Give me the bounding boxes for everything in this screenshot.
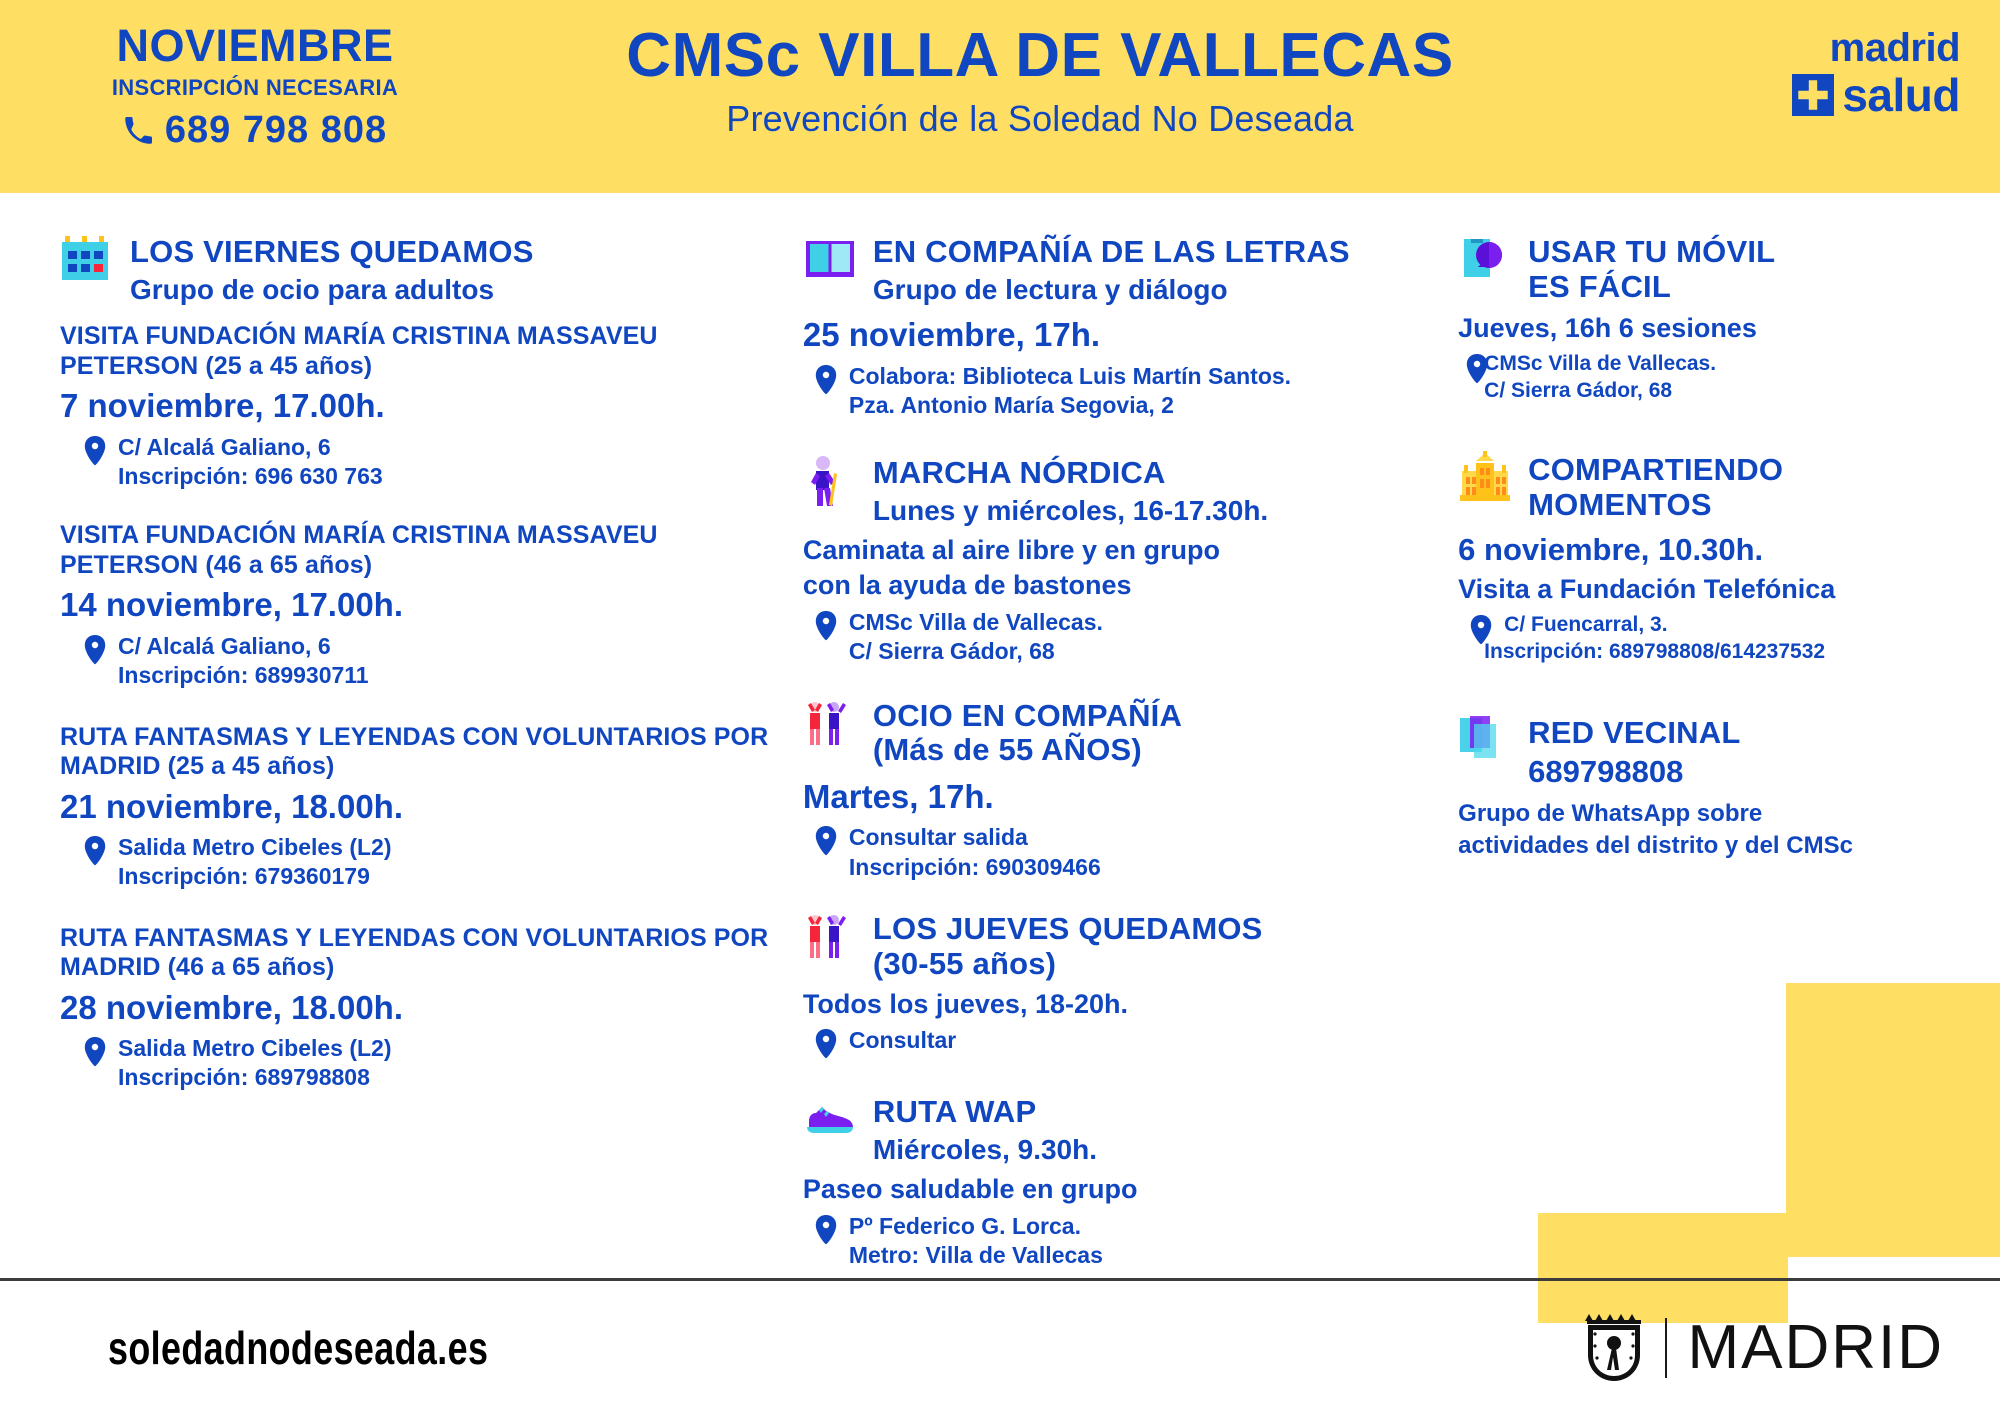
location-text: Salida Metro Cibeles (L2) Inscripción: 6… xyxy=(118,1034,392,1093)
activity-los-viernes-quedamos: LOS VIERNES QUEDAMOS Grupo de ocio para … xyxy=(60,233,781,1093)
location-pin-icon xyxy=(815,611,837,641)
event-date: 28 noviembre, 18.00h. xyxy=(60,987,781,1028)
madrid-salud-logo-line1: madrid xyxy=(1830,28,1960,68)
event-item: VISITA FUNDACIÓN MARÍA CRISTINA MASSAVEU… xyxy=(60,521,781,690)
location-text: Consultar salida Inscripción: 690309466 xyxy=(849,823,1101,882)
activity-subtitle: Grupo de lectura y diálogo xyxy=(873,273,1350,307)
event-name: RUTA FANTASMAS Y LEYENDAS CON VOLUNTARIO… xyxy=(60,723,781,782)
location-line-2: C/ Sierra Gádor, 68 xyxy=(1484,378,1716,405)
event-item: VISITA FUNDACIÓN MARÍA CRISTINA MASSAVEU… xyxy=(60,322,781,491)
poster-body: LOS VIERNES QUEDAMOS Grupo de ocio para … xyxy=(0,193,2000,1293)
activity-title: COMPARTIENDO xyxy=(1528,453,1783,488)
phones-network-icon xyxy=(1458,714,1512,768)
location-pin-icon xyxy=(84,436,106,466)
poster-title: CMSc VILLA DE VALLECAS xyxy=(510,22,1570,90)
location-line-2: Metro: Villa de Vallecas xyxy=(849,1241,1103,1270)
header-phone-number[interactable]: 689 798 808 xyxy=(165,109,387,152)
event-location: Salida Metro Cibeles (L2) Inscripción: 6… xyxy=(60,1034,781,1093)
madrid-salud-logo-row2: salud xyxy=(1792,72,1960,118)
location-address: Salida Metro Cibeles (L2) xyxy=(118,833,392,862)
madrid-city-logo: MADRID xyxy=(1583,1312,1944,1384)
poster-root: NOVIEMBRE INSCRIPCIÓN NECESARIA 689 798 … xyxy=(0,0,2000,1414)
event-location: C/ Alcalá Galiano, 6 Inscripción: 696 63… xyxy=(60,433,781,492)
location-pin-icon xyxy=(84,836,106,866)
location-pin-icon xyxy=(815,1029,837,1059)
location-line-2: Inscripción: 689798808/614237532 xyxy=(1484,639,1825,666)
activity-titles: USAR TU MÓVIL ES FÁCIL xyxy=(1528,233,1775,304)
location-address: C/ Alcalá Galiano, 6 xyxy=(118,632,369,661)
activity-header: USAR TU MÓVIL ES FÁCIL xyxy=(1458,233,1956,304)
location-line-2: C/ Sierra Gádor, 68 xyxy=(849,637,1103,666)
activity-los-jueves-quedamos: LOS JUEVES QUEDAMOS (30-55 años) Todos l… xyxy=(803,910,1438,1059)
activity-date: 6 noviembre, 10.30h. xyxy=(1458,531,1956,570)
activity-header: COMPARTIENDO MOMENTOS xyxy=(1458,451,1956,522)
madrid-salud-logo: madrid salud xyxy=(1570,0,2000,118)
activity-note-line-1: Caminata al aire libre y en grupo xyxy=(803,534,1438,567)
website-url[interactable]: soledadnodeseada.es xyxy=(108,1321,488,1375)
activity-marcha-nordica: MARCHA NÓRDICA Lunes y miércoles, 16-17.… xyxy=(803,454,1438,666)
activity-title: EN COMPAÑÍA DE LAS LETRAS xyxy=(873,235,1350,270)
two-people-icon xyxy=(803,697,857,751)
poster-tagline: Prevención de la Soledad No Deseada xyxy=(510,98,1570,140)
activity-title: USAR TU MÓVIL xyxy=(1528,235,1775,270)
activity-title: RUTA WAP xyxy=(873,1095,1097,1130)
activity-titles: MARCHA NÓRDICA Lunes y miércoles, 16-17.… xyxy=(873,454,1268,527)
column-right: USAR TU MÓVIL ES FÁCIL Jueves, 16h 6 ses… xyxy=(1438,233,1956,1293)
activity-note: Visita a Fundación Telefónica xyxy=(1458,573,1956,606)
event-date: 21 noviembre, 18.00h. xyxy=(60,786,781,827)
activity-phone[interactable]: 689798808 xyxy=(1528,753,1740,792)
activity-red-vecinal: RED VECINAL 689798808 Grupo de WhatsApp … xyxy=(1458,714,1956,860)
activity-compartiendo-momentos: COMPARTIENDO MOMENTOS 6 noviembre, 10.30… xyxy=(1458,451,1956,666)
activity-title-line-2: ES FÁCIL xyxy=(1528,270,1775,305)
location-text: C/ Alcalá Galiano, 6 Inscripción: 696 63… xyxy=(118,433,383,492)
activity-location: CMSc Villa de Vallecas. C/ Sierra Gádor,… xyxy=(803,608,1438,667)
location-registration: Inscripción: 679360179 xyxy=(118,862,392,891)
activity-location: Colabora: Biblioteca Luis Martín Santos.… xyxy=(803,362,1438,421)
activity-header: LOS JUEVES QUEDAMOS (30-55 años) xyxy=(803,910,1438,981)
location-address: C/ Alcalá Galiano, 6 xyxy=(118,433,383,462)
activity-titles: LOS VIERNES QUEDAMOS Grupo de ocio para … xyxy=(130,233,534,306)
activity-header: EN COMPAÑÍA DE LAS LETRAS Grupo de lectu… xyxy=(803,233,1438,306)
phone-icon xyxy=(123,116,153,146)
activity-subtitle: Miércoles, 9.30h. xyxy=(873,1133,1097,1167)
event-name: VISITA FUNDACIÓN MARÍA CRISTINA MASSAVEU… xyxy=(60,322,781,381)
activity-location: Consultar salida Inscripción: 690309466 xyxy=(803,823,1438,882)
activity-header: RUTA WAP Miércoles, 9.30h. xyxy=(803,1093,1438,1166)
activity-title: OCIO EN COMPAÑÍA xyxy=(873,699,1182,734)
activity-note: Paseo saludable en grupo xyxy=(803,1173,1438,1206)
column-middle: EN COMPAÑÍA DE LAS LETRAS Grupo de lectu… xyxy=(781,233,1438,1293)
location-pin-icon xyxy=(815,826,837,856)
poster-header: NOVIEMBRE INSCRIPCIÓN NECESARIA 689 798 … xyxy=(0,0,2000,193)
activity-en-compania-de-las-letras: EN COMPAÑÍA DE LAS LETRAS Grupo de lectu… xyxy=(803,233,1438,420)
activity-titles: COMPARTIENDO MOMENTOS xyxy=(1528,451,1783,522)
activity-date: 25 noviembre, 17h. xyxy=(803,314,1438,355)
activity-titles: RUTA WAP Miércoles, 9.30h. xyxy=(873,1093,1097,1166)
nordic-walker-icon xyxy=(803,454,857,508)
location-text: CMSc Villa de Vallecas. C/ Sierra Gádor,… xyxy=(849,608,1103,667)
two-people-icon xyxy=(803,910,857,964)
activity-title-line-2: (Más de 55 AÑOS) xyxy=(873,733,1182,768)
header-center-block: CMSc VILLA DE VALLECAS Prevención de la … xyxy=(510,0,1570,140)
activity-date: Jueves, 16h 6 sesiones xyxy=(1458,312,1956,345)
event-name: RUTA FANTASMAS Y LEYENDAS CON VOLUNTARIO… xyxy=(60,924,781,983)
activity-location: CMSc Villa de Vallecas. C/ Sierra Gádor,… xyxy=(1458,351,1956,405)
location-address: Salida Metro Cibeles (L2) xyxy=(118,1034,392,1063)
activity-ruta-wap: RUTA WAP Miércoles, 9.30h. Paseo saludab… xyxy=(803,1093,1438,1270)
activity-location: C/ Fuencarral, 3. Inscripción: 689798808… xyxy=(1458,612,1956,666)
activity-location: Consultar xyxy=(803,1026,1438,1059)
location-line-1: Consultar salida xyxy=(849,823,1101,852)
activity-header: MARCHA NÓRDICA Lunes y miércoles, 16-17.… xyxy=(803,454,1438,527)
activity-ocio-en-compania: OCIO EN COMPAÑÍA (Más de 55 AÑOS) Martes… xyxy=(803,697,1438,883)
activity-subtitle: Lunes y miércoles, 16-17.30h. xyxy=(873,494,1268,528)
calendar-icon xyxy=(60,233,114,287)
location-text: Salida Metro Cibeles (L2) Inscripción: 6… xyxy=(118,833,392,892)
activity-date: Todos los jueves, 18-20h. xyxy=(803,988,1438,1021)
event-date: 7 noviembre, 17.00h. xyxy=(60,385,781,426)
location-pin-icon xyxy=(815,365,837,395)
activity-title-line-2: (30-55 años) xyxy=(873,947,1263,982)
activity-titles: OCIO EN COMPAÑÍA (Más de 55 AÑOS) xyxy=(873,697,1182,768)
activity-location: Pº Federico G. Lorca. Metro: Villa de Va… xyxy=(803,1212,1438,1271)
activity-header: OCIO EN COMPAÑÍA (Más de 55 AÑOS) xyxy=(803,697,1438,768)
open-book-icon xyxy=(803,233,857,287)
location-registration: Inscripción: 696 630 763 xyxy=(118,462,383,491)
location-registration: Inscripción: 689930711 xyxy=(118,661,369,690)
header-month: NOVIEMBRE xyxy=(0,22,510,69)
activity-date: Martes, 17h. xyxy=(803,776,1438,817)
location-pin-icon xyxy=(84,635,106,665)
event-location: C/ Alcalá Galiano, 6 Inscripción: 689930… xyxy=(60,632,781,691)
header-left-block: NOVIEMBRE INSCRIPCIÓN NECESARIA 689 798 … xyxy=(0,0,510,152)
header-phone-row: 689 798 808 xyxy=(0,109,510,152)
location-text: Colabora: Biblioteca Luis Martín Santos.… xyxy=(849,362,1291,421)
location-text: Consultar xyxy=(849,1026,956,1055)
location-line-2: Pza. Antonio María Segovia, 2 xyxy=(849,391,1291,420)
activity-title-line-2: MOMENTOS xyxy=(1528,488,1783,523)
location-text: Pº Federico G. Lorca. Metro: Villa de Va… xyxy=(849,1212,1103,1271)
madrid-logo-text: MADRID xyxy=(1687,1312,1944,1383)
location-pin-icon xyxy=(815,1215,837,1245)
sneaker-icon xyxy=(803,1093,857,1147)
location-line-1: CMSc Villa de Vallecas. xyxy=(849,608,1103,637)
activity-subtitle: Grupo de ocio para adultos xyxy=(130,273,534,307)
activity-titles: LOS JUEVES QUEDAMOS (30-55 años) xyxy=(873,910,1263,981)
event-item: RUTA FANTASMAS Y LEYENDAS CON VOLUNTARIO… xyxy=(60,924,781,1093)
madrid-coat-of-arms-icon xyxy=(1583,1312,1645,1384)
health-cross-icon xyxy=(1792,74,1834,116)
activity-note-line-1: Grupo de WhatsApp sobre xyxy=(1458,799,1956,828)
location-text: C/ Alcalá Galiano, 6 Inscripción: 689930… xyxy=(118,632,369,691)
activity-titles: EN COMPAÑÍA DE LAS LETRAS Grupo de lectu… xyxy=(873,233,1350,306)
location-text: CMSc Villa de Vallecas. C/ Sierra Gádor,… xyxy=(1484,351,1716,405)
location-registration: Inscripción: 689798808 xyxy=(118,1063,392,1092)
activity-title: LOS VIERNES QUEDAMOS xyxy=(130,235,534,270)
location-line-2: Inscripción: 690309466 xyxy=(849,853,1101,882)
activity-header: LOS VIERNES QUEDAMOS Grupo de ocio para … xyxy=(60,233,781,306)
location-text: C/ Fuencarral, 3. Inscripción: 689798808… xyxy=(1504,612,1825,666)
madrid-salud-logo-line2: salud xyxy=(1842,72,1960,118)
column-left: LOS VIERNES QUEDAMOS Grupo de ocio para … xyxy=(44,233,781,1293)
event-date: 14 noviembre, 17.00h. xyxy=(60,584,781,625)
event-item: RUTA FANTASMAS Y LEYENDAS CON VOLUNTARIO… xyxy=(60,723,781,892)
poster-footer: soledadnodeseada.es xyxy=(0,1278,2000,1414)
activity-title: RED VECINAL xyxy=(1528,716,1740,751)
activity-title: MARCHA NÓRDICA xyxy=(873,456,1268,491)
logo-divider xyxy=(1665,1318,1667,1378)
activity-header: RED VECINAL 689798808 xyxy=(1458,714,1956,791)
activity-title: LOS JUEVES QUEDAMOS xyxy=(873,912,1263,947)
event-location: Salida Metro Cibeles (L2) Inscripción: 6… xyxy=(60,833,781,892)
activity-note-line-2: con la ayuda de bastones xyxy=(803,569,1438,602)
location-line-1: Colabora: Biblioteca Luis Martín Santos. xyxy=(849,362,1291,391)
palace-icon xyxy=(1458,451,1512,505)
activity-note-line-2: actividades del distrito y del CMSc xyxy=(1458,831,1956,860)
activity-usar-tu-movil-es-facil: USAR TU MÓVIL ES FÁCIL Jueves, 16h 6 ses… xyxy=(1458,233,1956,405)
header-registration-note: INSCRIPCIÓN NECESARIA xyxy=(0,75,510,101)
location-line-1: Pº Federico G. Lorca. xyxy=(849,1212,1103,1241)
event-name: VISITA FUNDACIÓN MARÍA CRISTINA MASSAVEU… xyxy=(60,521,781,580)
location-line-1: C/ Fuencarral, 3. xyxy=(1504,612,1825,639)
location-line-1: Consultar xyxy=(849,1026,956,1055)
activity-titles: RED VECINAL 689798808 xyxy=(1528,714,1740,791)
smartphone-chat-icon xyxy=(1458,233,1512,287)
location-pin-icon xyxy=(84,1037,106,1067)
location-line-1: CMSc Villa de Vallecas. xyxy=(1484,351,1716,378)
